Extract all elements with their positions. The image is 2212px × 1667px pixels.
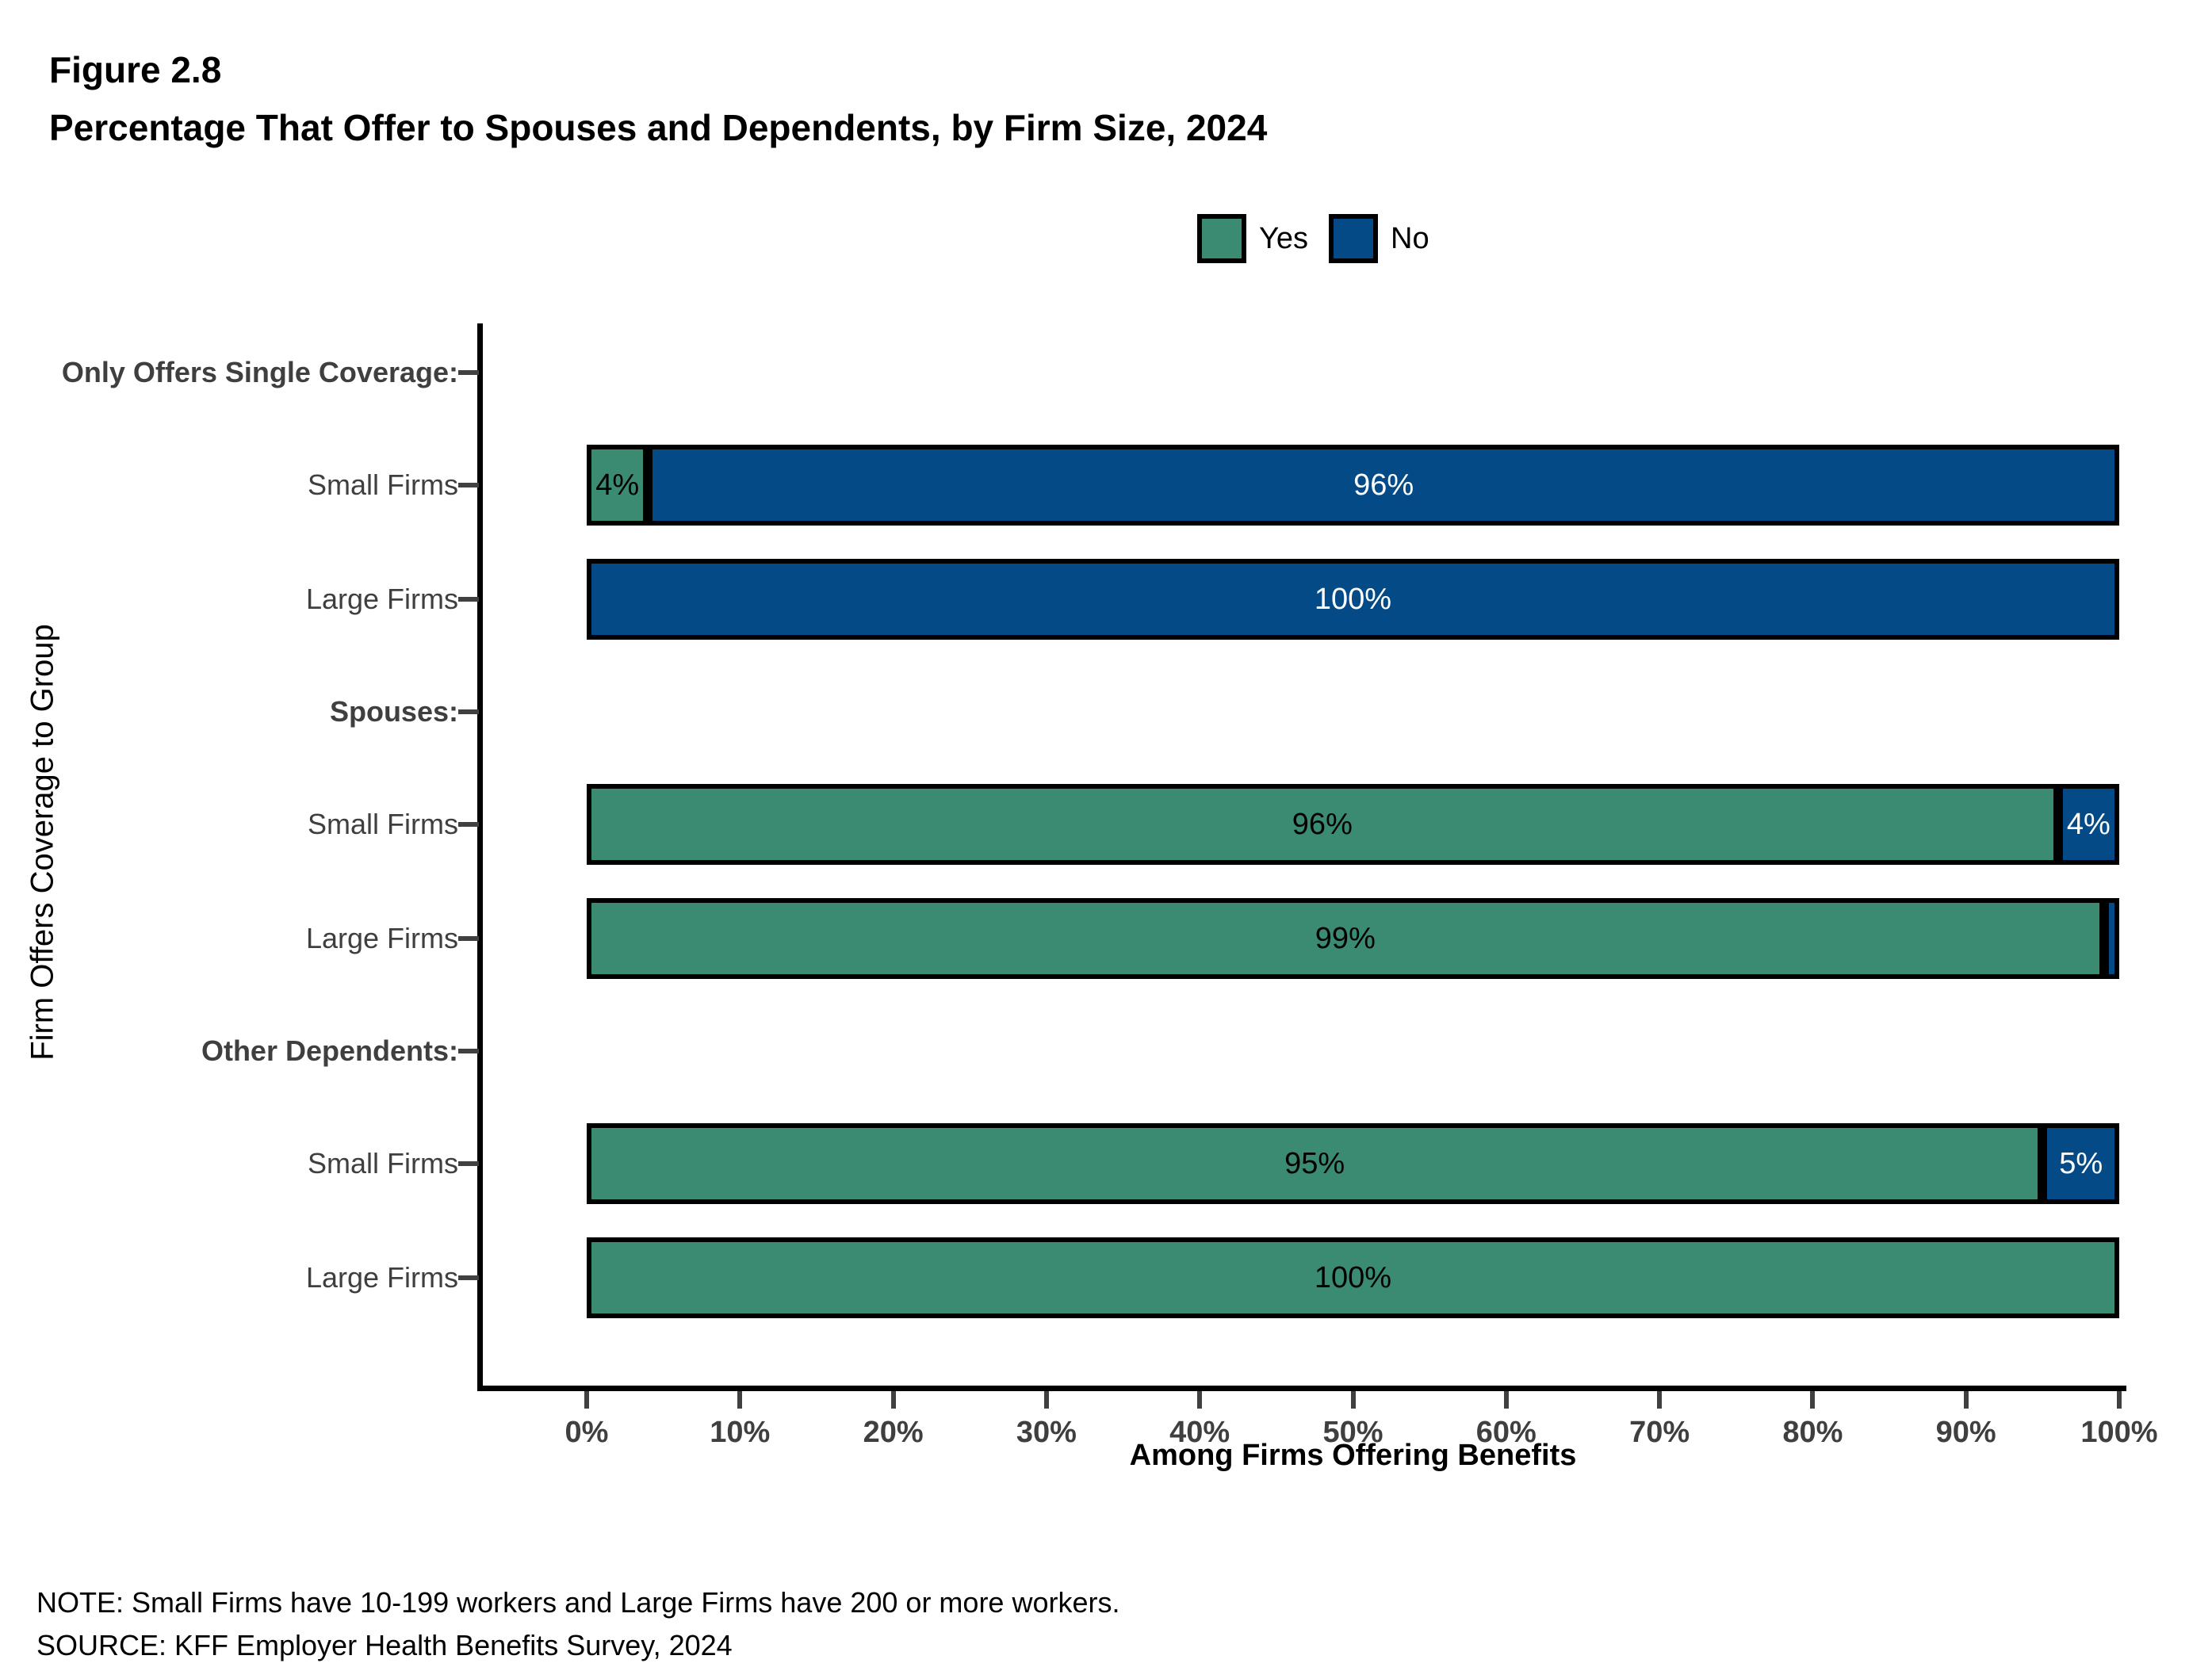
y-axis-tick-mark: [458, 709, 479, 714]
y-axis-tick-mark: [458, 1275, 479, 1280]
x-axis-tick-mark: [2117, 1391, 2122, 1409]
x-axis-tick-mark: [891, 1391, 896, 1409]
x-axis-tick-label: 30%: [1016, 1416, 1077, 1450]
y-axis-group-label: Other Dependents:: [201, 1034, 458, 1068]
y-axis-category-label: Large Firms: [306, 583, 458, 616]
x-axis-line: [477, 1386, 2126, 1391]
x-axis-tick-mark: [1810, 1391, 1815, 1409]
legend-item-no[interactable]: No: [1329, 214, 1429, 263]
legend-label: Yes: [1259, 222, 1308, 256]
bar-value-label: 95%: [1284, 1147, 1345, 1181]
y-axis-category-label: Small Firms: [308, 468, 458, 502]
x-axis-tick-label: 40%: [1169, 1416, 1230, 1450]
bar-segment-yes[interactable]: 99%: [587, 898, 2104, 979]
y-axis-category-label: Large Firms: [306, 922, 458, 955]
chart-legend: YesNo: [1197, 214, 1429, 263]
y-axis-group-label: Only Offers Single Coverage:: [62, 356, 458, 389]
bar-value-label: 99%: [1315, 922, 1376, 956]
x-axis-tick-mark: [1351, 1391, 1356, 1409]
bar-segment-no[interactable]: 5%: [2042, 1123, 2119, 1204]
bar-row[interactable]: 100%: [587, 559, 2119, 640]
x-axis-tick-mark: [584, 1391, 589, 1409]
x-axis-tick-label: 10%: [710, 1416, 770, 1450]
bar-row[interactable]: 100%: [587, 1237, 2119, 1318]
x-axis-tick-label: 0%: [565, 1416, 609, 1450]
bar-value-label: 96%: [1292, 808, 1353, 842]
x-axis-tick-label: 100%: [2080, 1416, 2157, 1450]
bar-row[interactable]: 4%96%: [587, 445, 2119, 526]
bar-row[interactable]: 95%5%: [587, 1123, 2119, 1204]
legend-item-yes[interactable]: Yes: [1197, 214, 1308, 263]
y-axis-tick-mark: [458, 370, 479, 375]
y-axis-title: Firm Offers Coverage to Group: [25, 565, 61, 1120]
bar-value-label: 100%: [1315, 1261, 1391, 1295]
x-axis-tick-mark: [1504, 1391, 1509, 1409]
bar-segment-no[interactable]: 100%: [587, 559, 2119, 640]
title-block: Figure 2.8 Percentage That Offer to Spou…: [49, 49, 1267, 149]
bar-segment-no[interactable]: 4%: [2058, 784, 2119, 865]
legend-swatch-icon: [1329, 214, 1378, 263]
bar-segment-yes[interactable]: 95%: [587, 1123, 2042, 1204]
x-axis-tick-mark: [737, 1391, 742, 1409]
bar-segment-yes[interactable]: 100%: [587, 1237, 2119, 1318]
y-axis-category-label: Small Firms: [308, 1147, 458, 1180]
x-axis-tick-mark: [1964, 1391, 1969, 1409]
figure-number: Figure 2.8: [49, 49, 1267, 91]
legend-label: No: [1391, 222, 1429, 256]
x-axis-tick-mark: [1197, 1391, 1202, 1409]
bar-value-label: 4%: [2067, 808, 2111, 842]
y-axis-tick-mark: [458, 1161, 479, 1166]
legend-swatch-icon: [1197, 214, 1246, 263]
x-axis-tick-label: 20%: [863, 1416, 924, 1450]
x-axis-tick-label: 80%: [1782, 1416, 1843, 1450]
y-axis-tick-mark: [458, 597, 479, 602]
y-axis-tick-mark: [458, 822, 479, 827]
source-text: SOURCE: KFF Employer Health Benefits Sur…: [36, 1624, 1119, 1667]
bar-value-label: 4%: [595, 468, 639, 503]
y-axis-tick-mark: [458, 483, 479, 487]
y-axis-category-label: Large Firms: [306, 1261, 458, 1294]
x-axis-tick-label: 90%: [1936, 1416, 1996, 1450]
y-axis-category-label: Small Firms: [308, 808, 458, 841]
bar-value-label: 96%: [1353, 468, 1414, 503]
y-axis-group-label: Spouses:: [330, 695, 458, 728]
x-axis-tick-label: 50%: [1322, 1416, 1383, 1450]
note-text: NOTE: Small Firms have 10-199 workers an…: [36, 1581, 1119, 1624]
bar-segment-yes[interactable]: 4%: [587, 445, 648, 526]
x-axis-tick-label: 70%: [1629, 1416, 1690, 1450]
bar-value-label: 5%: [2059, 1147, 2103, 1181]
bar-segment-yes[interactable]: 96%: [587, 784, 2058, 865]
bar-segment-no[interactable]: [2104, 898, 2119, 979]
y-axis-tick-mark: [458, 1049, 479, 1053]
bar-row[interactable]: 96%4%: [587, 784, 2119, 865]
bar-value-label: 100%: [1315, 583, 1391, 617]
bar-row[interactable]: 99%: [587, 898, 2119, 979]
footnotes: NOTE: Small Firms have 10-199 workers an…: [36, 1581, 1119, 1667]
x-axis-tick-label: 60%: [1476, 1416, 1537, 1450]
x-axis-tick-mark: [1657, 1391, 1662, 1409]
bar-segment-no[interactable]: 96%: [648, 445, 2119, 526]
y-axis-tick-mark: [458, 936, 479, 941]
x-axis-tick-mark: [1044, 1391, 1049, 1409]
page-title: Percentage That Offer to Spouses and Dep…: [49, 107, 1267, 149]
figure-canvas: Figure 2.8 Percentage That Offer to Spou…: [0, 0, 2212, 1665]
